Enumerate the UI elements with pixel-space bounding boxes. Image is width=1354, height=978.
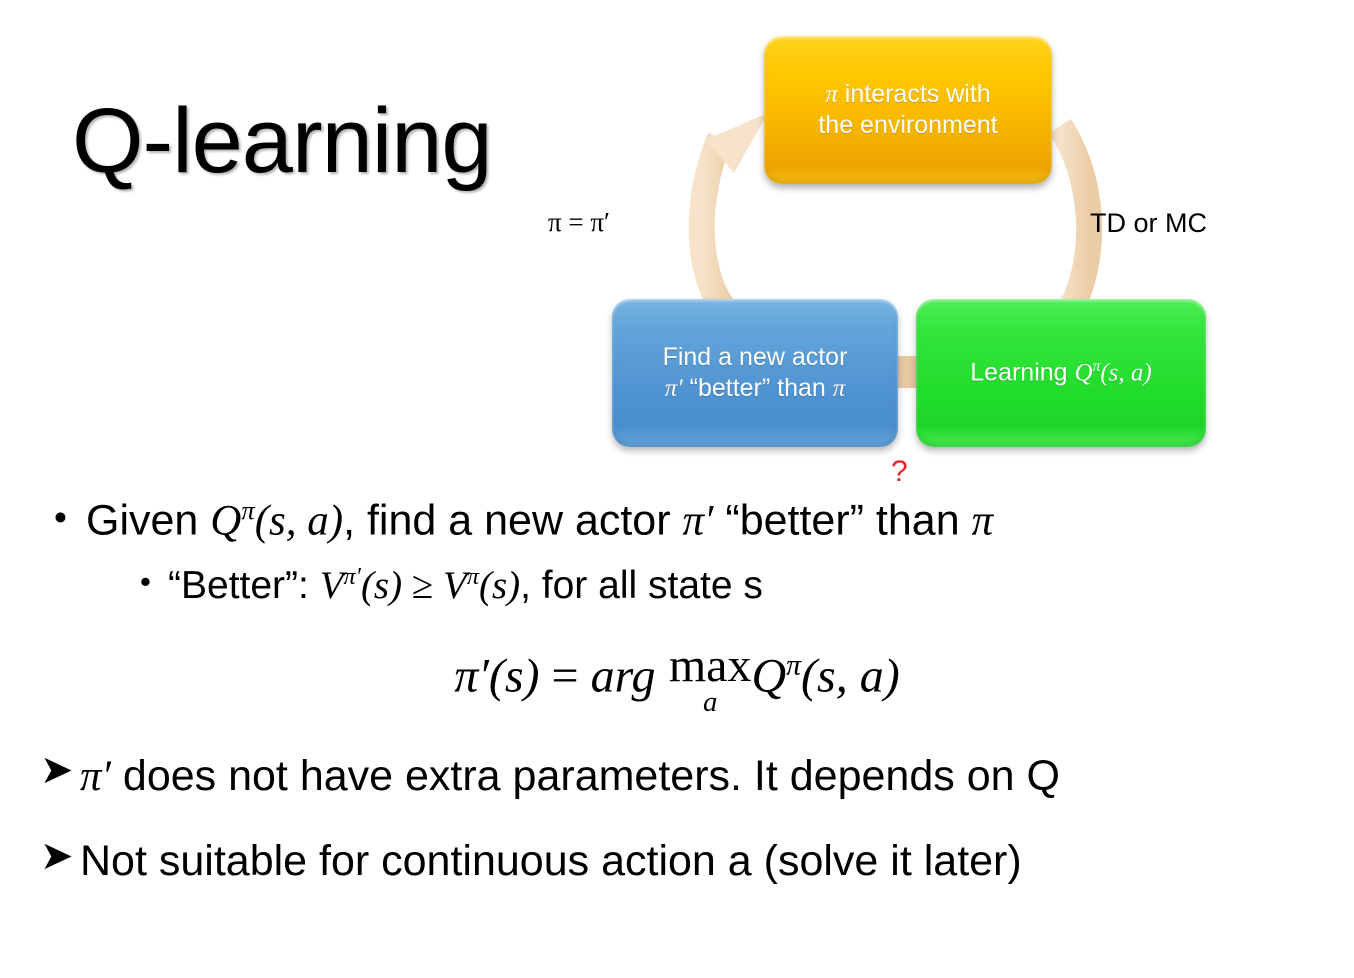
lhs-arguments: (s) bbox=[489, 650, 540, 703]
v-arguments: (s) bbox=[479, 564, 520, 607]
pi-prime-symbol: π′ bbox=[80, 753, 111, 800]
pi-symbol: π bbox=[972, 497, 994, 544]
bullet2-text-post: , for all state s bbox=[520, 564, 763, 607]
q-arguments: (s, a) bbox=[255, 497, 343, 544]
label-pi-equals-pi-prime: π = π′ bbox=[548, 207, 610, 238]
actor-line1: Find a new actor bbox=[663, 343, 848, 371]
diagram-node-environment[interactable]: π interacts with the environment bbox=[764, 36, 1052, 184]
q-superscript-pi: π bbox=[786, 649, 801, 682]
v-symbol: V bbox=[320, 564, 344, 607]
arrow-item-no-extra-parameters: ➤π′ does not have extra parameters. It d… bbox=[0, 752, 1354, 801]
env-line1-rest: interacts with bbox=[838, 80, 991, 108]
v-symbol: V bbox=[443, 564, 467, 607]
equation-policy-improvement: π′(s) = arg maxaQπ(s, a) bbox=[0, 642, 1354, 716]
pi-symbol: π bbox=[825, 81, 838, 108]
question-mark-annotation: ? bbox=[891, 455, 908, 489]
bullet1-text-quote: “better” than bbox=[713, 496, 971, 544]
v-superscript-pi: π bbox=[467, 563, 479, 590]
pi-symbol: π bbox=[833, 375, 846, 402]
arrow-item-1-text: Not suitable for continuous action a (so… bbox=[80, 837, 1022, 885]
bullet-better-definition: •“Better”: Vπ′(s) ≥ Vπ(s), for all state… bbox=[0, 563, 1354, 608]
diagram-node-learning-q-label: Learning Qπ(s, a) bbox=[970, 357, 1151, 389]
learn-text: Learning bbox=[970, 359, 1074, 387]
q-superscript-pi: π bbox=[241, 495, 254, 525]
diagram-node-new-actor-label: Find a new actor π′ “better” than π bbox=[663, 342, 848, 405]
bullet-marker-icon: • bbox=[54, 497, 67, 538]
arrow-bullet-icon: ➤ bbox=[40, 836, 74, 876]
arrow-item-not-continuous: ➤Not suitable for continuous action a (s… bbox=[0, 837, 1354, 885]
max-operator: maxa bbox=[669, 642, 752, 716]
diagram-node-environment-label: π interacts with the environment bbox=[818, 79, 997, 142]
max-operator-subscript: a bbox=[703, 688, 717, 716]
v-superscript-pi-prime: π′ bbox=[344, 563, 361, 590]
arrow-bullet-icon: ➤ bbox=[40, 750, 74, 790]
q-symbol: Q bbox=[1075, 360, 1093, 387]
v-arguments: (s) bbox=[361, 564, 402, 607]
q-symbol: Q bbox=[210, 497, 241, 544]
bullet-given-q: •Given Qπ(s, a), find a new actor π′ “be… bbox=[0, 496, 1354, 545]
equals-operator: = bbox=[540, 650, 591, 703]
q-arguments: (s, a) bbox=[1100, 360, 1151, 387]
diagram-node-learning-q[interactable]: Learning Qπ(s, a) bbox=[916, 299, 1206, 447]
arg-word: arg bbox=[591, 650, 656, 703]
slide-canvas: Q-learning π interacts with th bbox=[0, 0, 1354, 978]
bullet1-text-pre: Given bbox=[86, 496, 210, 544]
label-td-or-mc: TD or MC bbox=[1090, 208, 1207, 239]
page-title: Q-learning bbox=[72, 95, 492, 187]
q-arguments: (s, a) bbox=[801, 650, 900, 703]
slide-body: •Given Qπ(s, a), find a new actor π′ “be… bbox=[0, 496, 1354, 885]
env-line2: the environment bbox=[818, 111, 997, 139]
actor-line2-rest: “better” than bbox=[683, 374, 833, 402]
pi-prime-symbol: π′ bbox=[454, 650, 489, 703]
pi-prime-symbol: π′ bbox=[665, 375, 683, 402]
max-operator-label: max bbox=[669, 642, 752, 689]
pi-prime-symbol: π′ bbox=[682, 497, 713, 544]
bullet2-text-pre: “Better”: bbox=[168, 564, 320, 607]
bullet1-text-mid: , find a new actor bbox=[343, 496, 682, 544]
policy-iteration-diagram: π interacts with the environment Find a … bbox=[520, 18, 1280, 488]
q-symbol: Q bbox=[751, 650, 786, 703]
arrow-item-0-text: does not have extra parameters. It depen… bbox=[111, 752, 1060, 800]
bullet-marker-icon: • bbox=[140, 565, 151, 600]
diagram-node-new-actor[interactable]: Find a new actor π′ “better” than π bbox=[612, 299, 898, 447]
greater-equal-operator: ≥ bbox=[402, 564, 443, 607]
